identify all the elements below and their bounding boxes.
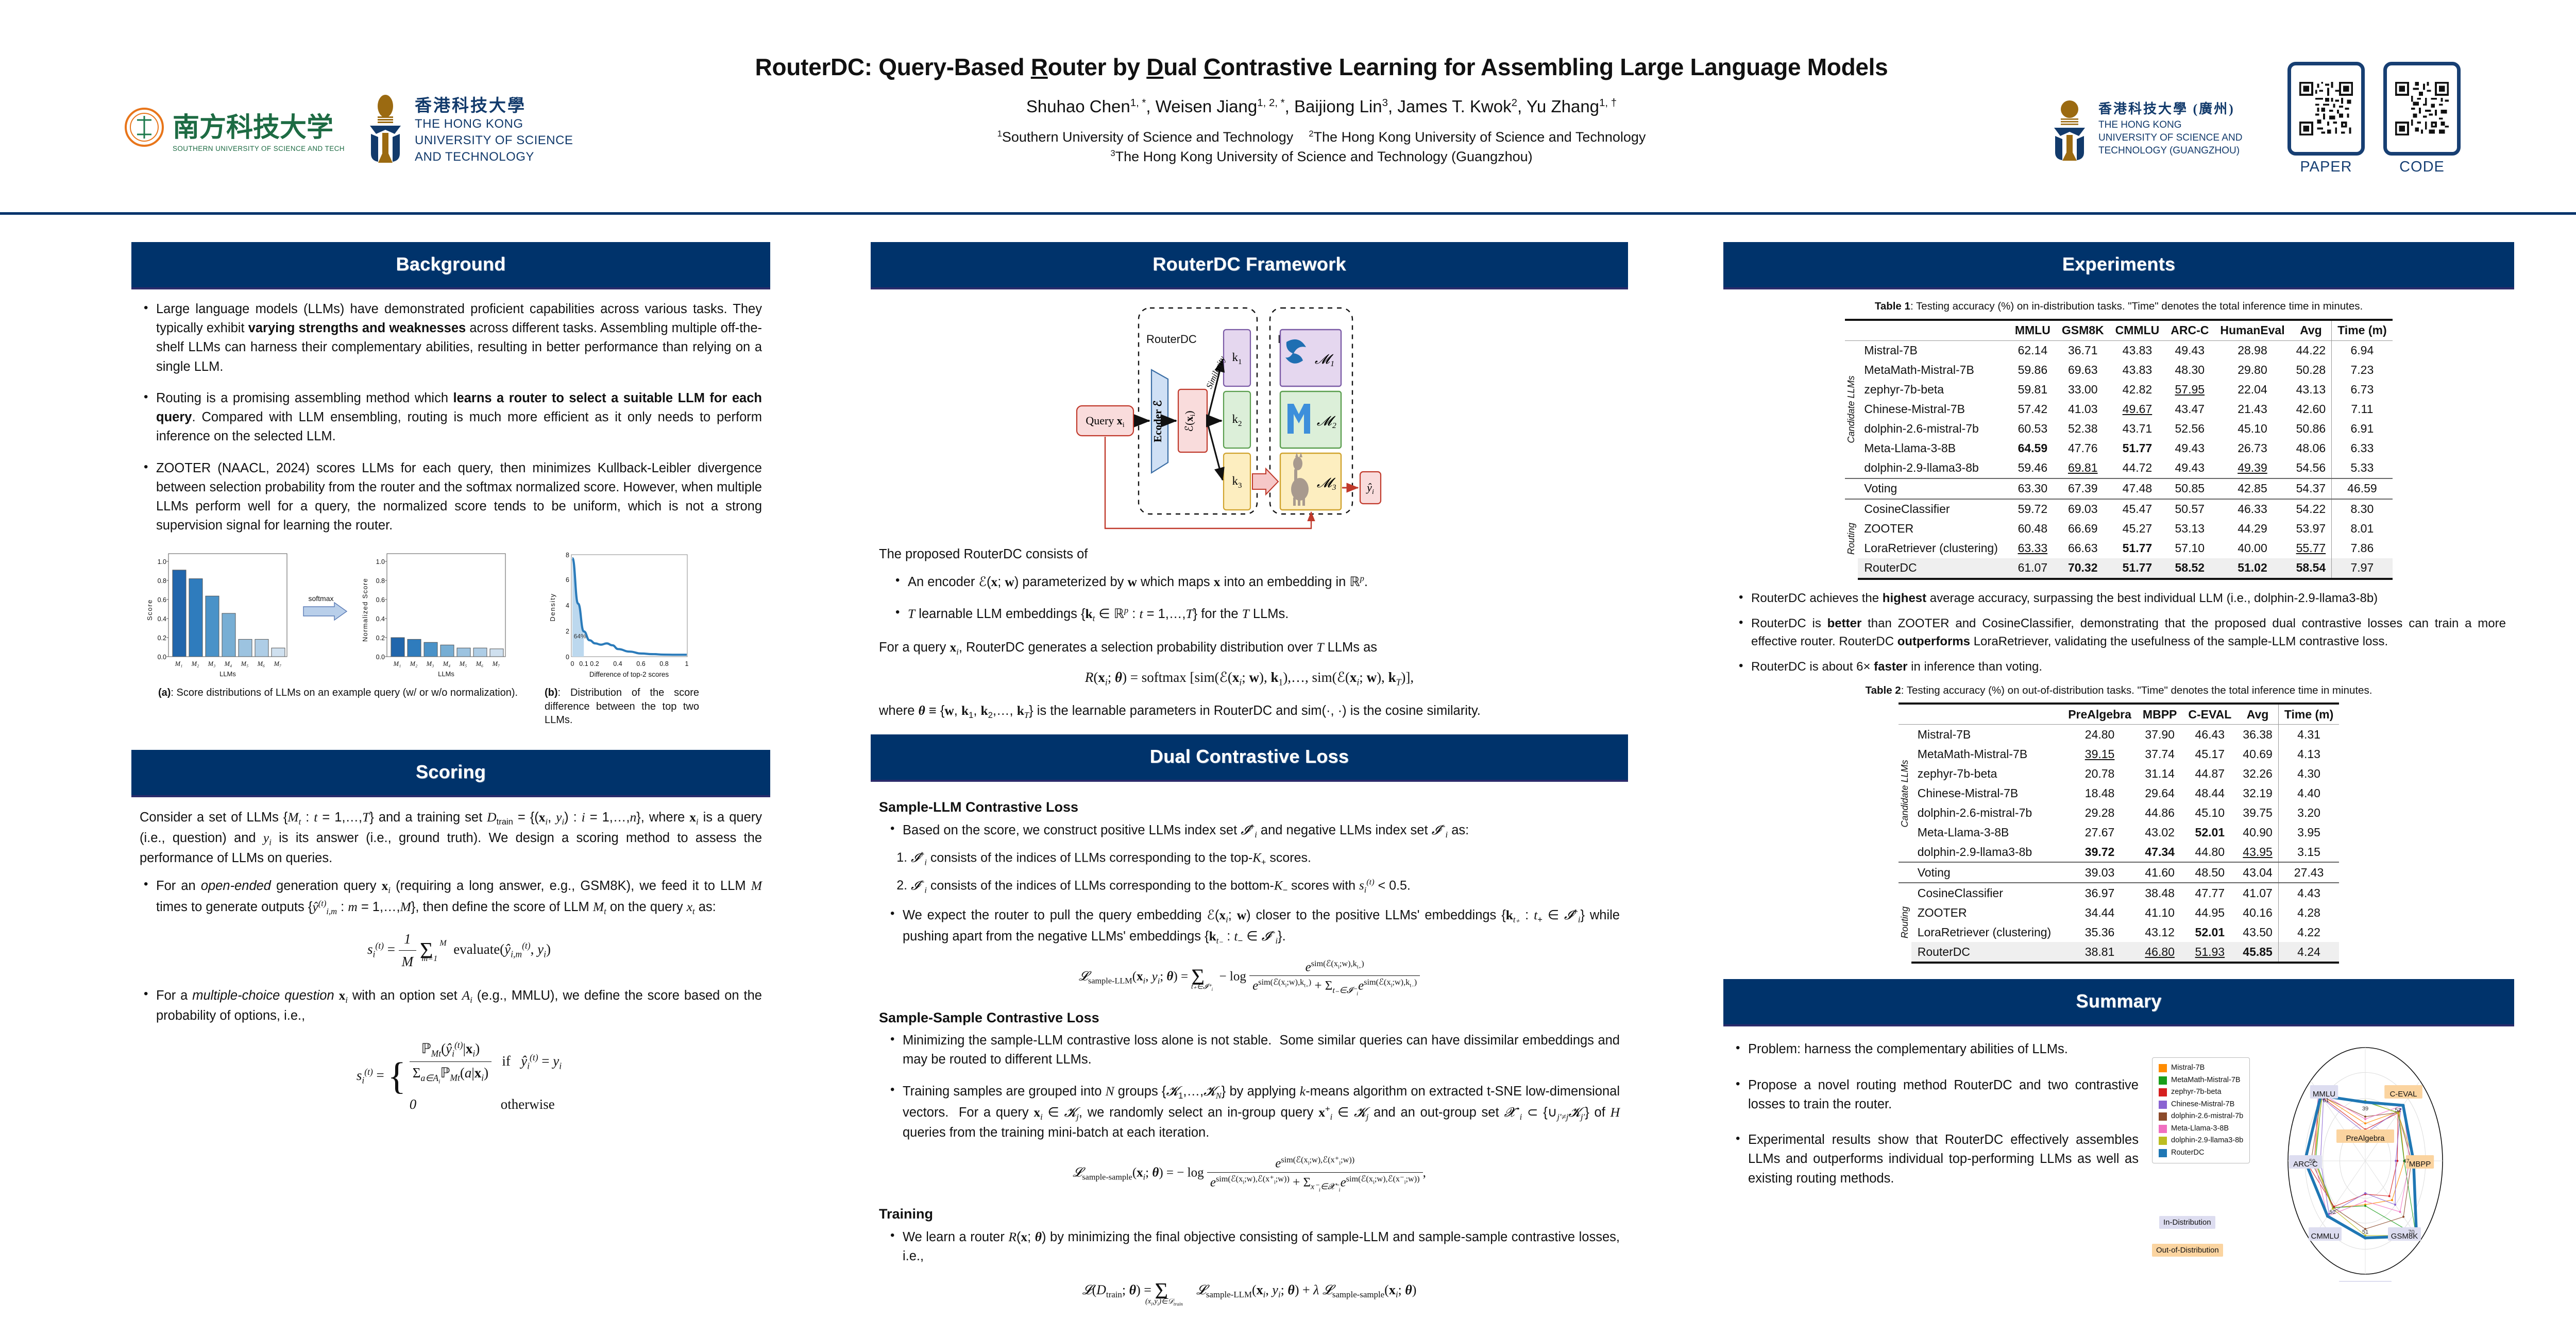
svg-text:0.2: 0.2 <box>376 635 385 642</box>
table-cell: 43.47 <box>2165 400 2214 419</box>
svg-text:M₁: M₁ <box>393 660 401 667</box>
list-item: 𝓘−i consists of the indices of LLMs corr… <box>911 876 1620 897</box>
table-cell: 45.85 <box>2237 942 2278 963</box>
row-label: Chinese-Mistral-7B <box>1911 783 2062 803</box>
column-header: PreAlgebra <box>2062 704 2137 725</box>
table-cell: 57.95 <box>2165 380 2214 400</box>
table-cell: 8.30 <box>2332 499 2393 519</box>
table-cell: 7.86 <box>2332 539 2393 558</box>
table-cell: 44.86 <box>2137 803 2182 822</box>
svg-text:MBPP: MBPP <box>2409 1160 2431 1169</box>
svg-text:0.2: 0.2 <box>158 635 166 642</box>
row-label: RouterDC <box>1911 942 2062 963</box>
svg-text:2: 2 <box>566 628 569 635</box>
row-label: Meta-Llama-3-8B <box>1911 822 2062 842</box>
svg-text:THE HONG KONG: THE HONG KONG <box>2098 119 2182 130</box>
table-cell: 59.81 <box>2009 380 2056 400</box>
table-cell: 4.28 <box>2278 903 2339 922</box>
experiments-findings-1: RouterDC achieves the highest average ac… <box>1735 589 2506 676</box>
svg-text:1.0: 1.0 <box>158 558 166 565</box>
legend-swatch <box>2159 1076 2167 1085</box>
summary-bullets: Problem: harness the complementary abili… <box>1732 1040 2139 1188</box>
table-cell: 47.48 <box>2110 478 2165 499</box>
table-cell: 44.87 <box>2182 764 2237 783</box>
table-cell: 38.48 <box>2137 883 2182 903</box>
legend-swatch <box>2159 1137 2167 1145</box>
subhead-training: Training <box>879 1206 1620 1222</box>
svg-text:SOUTHERN UNIVERSITY OF SCIENCE: SOUTHERN UNIVERSITY OF SCIENCE AND TECHN… <box>173 145 345 152</box>
affiliation-line-2: 3The Hong Kong University of Science and… <box>592 147 2050 166</box>
svg-text:52: 52 <box>2330 1209 2336 1215</box>
table-cell: 51.77 <box>2110 439 2165 458</box>
table-cell: 37.90 <box>2137 725 2182 745</box>
row-label: dolphin-2.6-mistral-7b <box>1911 803 2062 822</box>
table-cell: 6.91 <box>2332 419 2393 439</box>
row-label: LoraRetriever (clustering) <box>1911 922 2062 942</box>
table-cell: 8.01 <box>2332 519 2393 539</box>
table-cell: 4.40 <box>2278 783 2339 803</box>
svg-text:M₅: M₅ <box>241 660 249 667</box>
table-cell: 63.30 <box>2009 478 2056 499</box>
table-cell: 3.20 <box>2278 803 2339 822</box>
svg-text:59: 59 <box>2309 1158 2315 1164</box>
list-item: Based on the score, we construct positiv… <box>886 820 1620 841</box>
page-title: RouterDC: Query-Based Router by Dual Con… <box>592 54 2050 81</box>
table-cell: 20.78 <box>2062 764 2137 783</box>
table-cell: 39.03 <box>2062 862 2137 883</box>
table-cell: 28.98 <box>2214 340 2290 361</box>
scoring-intro: Consider a set of LLMs {Mt : t = 1,…,T} … <box>140 808 762 868</box>
author-list: Shuhao Chen1, *, Weisen Jiang1, 2, *, Ba… <box>592 96 2050 117</box>
svg-text:M₂: M₂ <box>410 660 418 667</box>
table-cell: 52.38 <box>2056 419 2110 439</box>
figure-a-score-distributions: Score 0.00.20.4 0.60.81.0 M₁M₂M₃ M₄M₅M₆M… <box>140 547 536 684</box>
figure-b-caption: (b): Distribution of the score differenc… <box>545 686 699 727</box>
qr-paper[interactable]: PAPER <box>2287 62 2365 176</box>
list-item: RouterDC is about 6× faster in inference… <box>1735 658 2506 676</box>
background-figures: Score 0.00.20.4 0.60.81.0 M₁M₂M₃ M₄M₅M₆M… <box>140 547 762 684</box>
list-item: 𝓘+i consists of the indices of LLMs corr… <box>911 848 1620 869</box>
table-cell: 32.26 <box>2237 764 2278 783</box>
row-group-label: Candidate LLMs <box>1845 340 1858 478</box>
table2-caption: Table 2: Testing accuracy (%) on out-of-… <box>1732 684 2506 698</box>
radar-legend: Mistral-7BMetaMath-Mistral-7Bzephyr-7b-b… <box>2152 1057 2250 1163</box>
row-label: ZOOTER <box>1911 903 2062 922</box>
table-cell: 50.86 <box>2291 419 2332 439</box>
row-label: Voting <box>1911 862 2062 883</box>
logo-hkust: 香港科技大學 THE HONG KONG UNIVERSITY OF SCIEN… <box>361 93 587 167</box>
row-label: zephyr-7b-beta <box>1911 764 2062 783</box>
svg-text:CMMLU: CMMLU <box>2311 1232 2340 1241</box>
legend-item: Mistral-7B <box>2159 1062 2243 1074</box>
table-row: dolphin-2.9-llama3-8b39.7247.3444.8043.9… <box>1899 842 2340 862</box>
list-item: An encoder ℰ(x; w) parameterized by w wh… <box>891 572 1620 592</box>
table-cell: 51.93 <box>2182 942 2237 963</box>
svg-text:南方科技大学: 南方科技大学 <box>173 113 333 143</box>
framework-closing: where θ ≡ {w, k1, k2,…, kT} is the learn… <box>879 701 1620 722</box>
sample-sample-bullets: Minimizing the sample-LLM contrastive lo… <box>886 1031 1620 1142</box>
table-cell: 43.04 <box>2237 862 2278 883</box>
table-cell: 36.38 <box>2237 725 2278 745</box>
table-cell: 43.50 <box>2237 922 2278 942</box>
svg-text:4: 4 <box>566 602 569 609</box>
equation-sample-sample-loss: 𝓛sample-sample(xi; θ) = − log esim(ℰ(xi;… <box>879 1155 1620 1193</box>
section-header-experiments: Experiments <box>1723 242 2514 289</box>
table-cell: 52.01 <box>2182 822 2237 842</box>
table-cell: 41.03 <box>2056 400 2110 419</box>
svg-text:0.6: 0.6 <box>636 660 645 667</box>
svg-text:0.8: 0.8 <box>659 660 668 667</box>
legend-swatch <box>2159 1064 2167 1072</box>
table-cell: 40.69 <box>2237 744 2278 764</box>
svg-text:THE HONG KONG: THE HONG KONG <box>415 117 523 131</box>
list-item: Propose a novel routing method RouterDC … <box>1732 1076 2139 1114</box>
table-row: Candidate LLMsMistral-7B24.8037.9046.433… <box>1899 725 2340 745</box>
llm-label-1: 𝓜₁ <box>1315 352 1334 367</box>
qr-code-paper-icon[interactable] <box>2287 62 2365 156</box>
svg-text:0.4: 0.4 <box>158 615 166 623</box>
table-row: MetaMath-Mistral-7B39.1537.7445.1740.694… <box>1899 744 2340 764</box>
row-group-label: Routing <box>1899 883 1911 963</box>
framework-intro: The proposed RouterDC consists of <box>879 545 1620 564</box>
list-item: Problem: harness the complementary abili… <box>1732 1040 2139 1059</box>
section-header-framework: RouterDC Framework <box>871 242 1628 289</box>
table-cell: 70.32 <box>2056 558 2110 579</box>
table-row: Voting63.3067.3947.4850.8542.8554.3746.5… <box>1845 478 2392 499</box>
row-label: MetaMath-Mistral-7B <box>1858 361 2009 380</box>
list-item: RouterDC is better than ZOOTER and Cosin… <box>1735 614 2506 650</box>
svg-text:M₄: M₄ <box>443 660 451 667</box>
svg-text:M₁: M₁ <box>175 660 183 667</box>
table-cell: 43.83 <box>2110 340 2165 361</box>
table-cell: 58.52 <box>2165 558 2214 579</box>
embedding-label: ℰ(xi) <box>1183 410 1197 432</box>
figure-a-caption: (a): Score distributions of LLMs on an e… <box>140 686 536 727</box>
table-cell: 63.33 <box>2009 539 2056 558</box>
table-row: RoutingCosineClassifier59.7269.0345.4750… <box>1845 499 2392 519</box>
svg-text:0.4: 0.4 <box>613 660 622 667</box>
table-cell: 44.95 <box>2182 903 2237 922</box>
svg-text:UNIVERSITY OF SCIENCE: UNIVERSITY OF SCIENCE <box>415 133 573 147</box>
svg-text:0.0: 0.0 <box>158 654 166 661</box>
table-cell: 51.02 <box>2214 558 2290 579</box>
table-row: zephyr-7b-beta59.8133.0042.8257.9522.044… <box>1845 380 2392 400</box>
table-cell: 36.97 <box>2062 883 2137 903</box>
table-cell: 58.54 <box>2291 558 2332 579</box>
legend-swatch <box>2159 1149 2167 1157</box>
row-label: CosineClassifier <box>1858 499 2009 519</box>
svg-text:香港科技大學 (廣州): 香港科技大學 (廣州) <box>2098 101 2235 116</box>
table-cell: 44.80 <box>2182 842 2237 862</box>
table-cell: 57.10 <box>2165 539 2214 558</box>
column-header: Time (m) <box>2278 704 2339 725</box>
table-cell: 50.85 <box>2165 478 2214 499</box>
legend-label: dolphin-2.6-mistral-7b <box>2171 1110 2243 1122</box>
equation-training-objective: 𝓛(Dtrain; θ) = Σ(xi,yi)∈𝒟train 𝓛sample-L… <box>879 1278 1620 1307</box>
equation-mcq-score: si(t) = { ℙMt(ŷi(t)|xi) Σa∈AiℙMt(a|xi) i… <box>156 1039 762 1115</box>
subhead-sample-sample: Sample-Sample Contrastive Loss <box>879 1010 1620 1026</box>
table-cell: 4.31 <box>2278 725 2339 745</box>
background-bullets: Large language models (LLMs) have demons… <box>140 300 762 535</box>
table-row: ZOOTER34.4441.1044.9540.164.28 <box>1899 903 2340 922</box>
radar-tag-out-of-distribution: Out-of-Distribution <box>2152 1244 2223 1257</box>
table-cell: 48.50 <box>2182 862 2237 883</box>
table-cell: 60.53 <box>2009 419 2056 439</box>
table-cell: 41.10 <box>2137 903 2182 922</box>
table-cell: 53.13 <box>2165 519 2214 539</box>
legend-label: MetaMath-Mistral-7B <box>2171 1074 2241 1086</box>
table-cell: 41.60 <box>2137 862 2182 883</box>
qr-code-group: PAPER <box>2287 62 2461 176</box>
section-header-dual-loss: Dual Contrastive Loss <box>871 734 1628 782</box>
table-cell: 39.15 <box>2062 744 2137 764</box>
table-cell: 35.36 <box>2062 922 2137 942</box>
table-1-in-distribution: MMLUGSM8KCMMLUARC-CHumanEvalAvgTime (m)C… <box>1845 319 2392 580</box>
svg-text:8: 8 <box>566 552 569 559</box>
table-cell: 54.22 <box>2291 499 2332 519</box>
section-header-summary: Summary <box>1723 979 2514 1026</box>
table-row: ZOOTER60.4866.6945.2753.1344.2953.978.01 <box>1845 519 2392 539</box>
table-cell: 40.90 <box>2237 822 2278 842</box>
table-row: LoraRetriever (clustering)35.3643.1252.0… <box>1899 922 2340 942</box>
table-cell: 21.43 <box>2214 400 2290 419</box>
table-cell: 44.22 <box>2291 340 2332 361</box>
qr-code[interactable]: CODE <box>2383 62 2461 176</box>
table-cell: 6.33 <box>2332 439 2393 458</box>
table-cell: 61.07 <box>2009 558 2056 579</box>
svg-text:M₃: M₃ <box>426 660 434 667</box>
svg-text:61: 61 <box>2323 1098 2329 1104</box>
table-row: Candidate LLMsMistral-7B62.1436.7143.834… <box>1845 340 2392 361</box>
query-label: Query xi <box>1086 414 1124 429</box>
legend-item: dolphin-2.6-mistral-7b <box>2159 1110 2243 1122</box>
svg-text:70: 70 <box>2408 1229 2414 1236</box>
sample-llm-numbered: 𝓘+i consists of the indices of LLMs corr… <box>879 848 1620 896</box>
table-cell: 39.75 <box>2237 803 2278 822</box>
list-item: Routing is a promising assembling method… <box>140 389 762 447</box>
column-header: Avg <box>2291 320 2332 341</box>
table-cell: 18.48 <box>2062 783 2137 803</box>
svg-text:M₄: M₄ <box>224 660 232 667</box>
svg-text:M₃: M₃ <box>208 660 216 667</box>
svg-text:0.8: 0.8 <box>158 577 166 585</box>
framework-diagram: RouterDC LLMs Query xi Ecoder ℰ ℰ(xi) k1… <box>879 303 1620 540</box>
list-item: We expect the router to pull the query e… <box>886 905 1620 947</box>
table-cell: 55.77 <box>2291 539 2332 558</box>
svg-text:M₆: M₆ <box>476 660 484 667</box>
column-middle: RouterDC Framework RouterDC LLMs Query x… <box>871 242 1628 1320</box>
table-cell: 41.07 <box>2237 883 2278 903</box>
svg-text:1.0: 1.0 <box>376 558 385 565</box>
table-header-row: MMLUGSM8KCMMLUARC-CHumanEvalAvgTime (m) <box>1845 320 2392 341</box>
svg-text:0.6: 0.6 <box>158 596 166 604</box>
list-item: ZOOTER (NAACL, 2024) scores LLMs for eac… <box>140 459 762 536</box>
row-label: Mistral-7B <box>1858 340 2009 361</box>
svg-text:香港科技大學: 香港科技大學 <box>415 96 526 115</box>
encoder-label: Ecoder ℰ <box>1151 400 1164 442</box>
svg-text:0.2: 0.2 <box>590 660 599 667</box>
table-cell: 24.80 <box>2062 725 2137 745</box>
table-cell: 49.43 <box>2165 340 2214 361</box>
table-cell: 6.94 <box>2332 340 2393 361</box>
svg-text:M₇: M₇ <box>492 660 500 667</box>
experiments-body: Table 1: Testing accuracy (%) on in-dist… <box>1723 289 2514 964</box>
table-cell: 43.95 <box>2237 842 2278 862</box>
svg-text:51: 51 <box>2362 1229 2368 1236</box>
svg-text:AND TECHNOLOGY: AND TECHNOLOGY <box>415 150 534 164</box>
table-cell: 47.77 <box>2182 883 2237 903</box>
table-row: dolphin-2.6-mistral-7b29.2844.8645.1039.… <box>1899 803 2340 822</box>
table-cell: 45.27 <box>2110 519 2165 539</box>
svg-text:TECHNOLOGY (GUANGZHOU): TECHNOLOGY (GUANGZHOU) <box>2098 145 2240 156</box>
table-cell: 52.56 <box>2165 419 2214 439</box>
table-cell: 45.10 <box>2214 419 2290 439</box>
svg-text:LLMs: LLMs <box>219 670 236 678</box>
table-cell: 29.28 <box>2062 803 2137 822</box>
row-label: Voting <box>1858 478 2009 499</box>
table-cell: 49.43 <box>2165 458 2214 478</box>
row-label: dolphin-2.6-mistral-7b <box>1858 419 2009 439</box>
affiliation-line-1: 1Southern University of Science and Tech… <box>592 127 2050 147</box>
legend-item: RouterDC <box>2159 1147 2243 1159</box>
table-cell: 42.85 <box>2214 478 2290 499</box>
svg-text:0.4: 0.4 <box>376 615 385 623</box>
table-cell: 48.06 <box>2291 439 2332 458</box>
table-cell: 46.59 <box>2332 478 2393 499</box>
column-header: GSM8K <box>2056 320 2110 341</box>
legend-item: MetaMath-Mistral-7B <box>2159 1074 2243 1086</box>
table-cell: 6.73 <box>2332 380 2393 400</box>
row-label: Mistral-7B <box>1911 725 2062 745</box>
svg-text:softmax: softmax <box>308 594 333 603</box>
column-header: MMLU <box>2009 320 2056 341</box>
table-cell: 3.95 <box>2278 822 2339 842</box>
table-cell: 7.97 <box>2332 558 2393 579</box>
training-bullets: We learn a router R(x; θ) by minimizing … <box>886 1227 1620 1266</box>
qr-paper-label: PAPER <box>2287 159 2365 176</box>
legend-swatch <box>2159 1088 2167 1096</box>
svg-text:UNIVERSITY OF SCIENCE AND: UNIVERSITY OF SCIENCE AND <box>2098 132 2242 143</box>
table-cell: 43.13 <box>2291 380 2332 400</box>
table-cell: 3.15 <box>2278 842 2339 862</box>
table1-caption: Table 1: Testing accuracy (%) on in-dist… <box>1732 300 2506 314</box>
legend-swatch <box>2159 1101 2167 1109</box>
table-cell: 64.59 <box>2009 439 2056 458</box>
radar-chart-wrap: Mistral-7BMetaMath-Mistral-7Bzephyr-7b-b… <box>2149 1040 2504 1284</box>
table-cell: 59.46 <box>2009 458 2056 478</box>
scoring-body: Consider a set of LLMs {Mt : t = 1,…,T} … <box>131 797 770 1115</box>
legend-label: zephyr-7b-beta <box>2171 1086 2222 1098</box>
table-cell: 46.80 <box>2137 942 2182 963</box>
table-cell: 7.23 <box>2332 361 2393 380</box>
llm-label-2: 𝓜₂ <box>1317 414 1336 428</box>
table-cell: 29.64 <box>2137 783 2182 803</box>
table-cell: 67.39 <box>2056 478 2110 499</box>
qr-code-code-icon[interactable] <box>2383 62 2461 156</box>
subhead-sample-llm: Sample-LLM Contrastive Loss <box>879 799 1620 815</box>
svg-text:LLMs: LLMs <box>438 670 454 678</box>
table-cell: 4.24 <box>2278 942 2339 963</box>
column-header: HumanEval <box>2214 320 2290 341</box>
svg-text:6: 6 <box>566 576 569 584</box>
table-row: zephyr-7b-beta20.7831.1444.8732.264.30 <box>1899 764 2340 783</box>
column-right: Experiments Table 1: Testing accuracy (%… <box>1723 242 2514 1284</box>
legend-label: Mistral-7B <box>2171 1062 2205 1074</box>
legend-item: dolphin-2.9-llama3-8b <box>2159 1135 2243 1146</box>
legend-label: Chinese-Mistral-7B <box>2171 1099 2234 1110</box>
row-label: LoraRetriever (clustering) <box>1858 539 2009 558</box>
table-cell: 51.77 <box>2110 558 2165 579</box>
legend-label: RouterDC <box>2171 1147 2204 1159</box>
scoring-bullets: For an open-ended generation query xi (r… <box>140 876 762 1115</box>
table-cell: 49.43 <box>2165 439 2214 458</box>
table-row: dolphin-2.6-mistral-7b60.5352.3843.7152.… <box>1845 419 2392 439</box>
column-left: Background Large language models (LLMs) … <box>131 242 770 1128</box>
table-cell: 29.80 <box>2214 361 2290 380</box>
svg-text:0: 0 <box>566 654 569 661</box>
svg-text:M₅: M₅ <box>459 660 467 667</box>
qr-code-label: CODE <box>2383 159 2461 176</box>
equation-open-ended-score: si(t) = 1M Σm=1M evaluate(ŷi,m(t), yi) <box>156 929 762 972</box>
table-cell: 48.30 <box>2165 361 2214 380</box>
table-2-out-of-distribution: PreAlgebraMBPPC-EVALAvgTime (m)Candidate… <box>1899 702 2340 964</box>
table-cell: 31.14 <box>2137 764 2182 783</box>
table-cell: 60.48 <box>2009 519 2056 539</box>
column-header: C-EVAL <box>2182 704 2237 725</box>
table-cell: 45.10 <box>2182 803 2237 822</box>
row-label: CosineClassifier <box>1911 883 2062 903</box>
svg-text:C-EVAL: C-EVAL <box>2389 1090 2417 1099</box>
svg-text:Score: Score <box>146 599 154 621</box>
table-cell: 69.63 <box>2056 361 2110 380</box>
table-cell: 62.14 <box>2009 340 2056 361</box>
table-cell: 52.01 <box>2182 922 2237 942</box>
framework-body: RouterDC LLMs Query xi Ecoder ℰ ℰ(xi) k1… <box>871 289 1628 722</box>
radar-tag-in-distribution: In-Distribution <box>2159 1216 2215 1229</box>
table-cell: 37.74 <box>2137 744 2182 764</box>
table-row: RouterDC61.0770.3251.7758.5251.0258.547.… <box>1845 558 2392 579</box>
table-row: Chinese-Mistral-7B18.4829.6448.4432.194.… <box>1899 783 2340 803</box>
table-cell: 26.73 <box>2214 439 2290 458</box>
section-header-scoring: Scoring <box>131 750 770 797</box>
list-item: For an open-ended generation query xi (r… <box>140 876 762 972</box>
table-cell: 33.00 <box>2056 380 2110 400</box>
row-group-label: Candidate LLMs <box>1899 725 1911 863</box>
table-cell: 46.33 <box>2214 499 2290 519</box>
list-item: Training samples are grouped into N grou… <box>886 1082 1620 1142</box>
sample-llm-bullets-2: We expect the router to pull the query e… <box>886 905 1620 947</box>
sample-llm-bullets: Based on the score, we construct positiv… <box>886 820 1620 841</box>
table-cell: 48.44 <box>2182 783 2237 803</box>
router-group-label: RouterDC <box>1146 333 1197 346</box>
table-cell: 44.72 <box>2110 458 2165 478</box>
table-cell: 59.72 <box>2009 499 2056 519</box>
table-cell: 34.44 <box>2062 903 2137 922</box>
column-header: CMMLU <box>2110 320 2165 341</box>
list-item: We learn a router R(x; θ) by minimizing … <box>886 1227 1620 1266</box>
table-cell: 53.97 <box>2291 519 2332 539</box>
table-cell: 36.71 <box>2056 340 2110 361</box>
row-label: Meta-Llama-3-8B <box>1858 439 2009 458</box>
table-row: Chinese-Mistral-7B57.4241.0349.6743.4721… <box>1845 400 2392 419</box>
table-cell: 27.43 <box>2278 862 2339 883</box>
table-cell: 7.11 <box>2332 400 2393 419</box>
table-cell: 38.81 <box>2062 942 2137 963</box>
svg-text:0: 0 <box>571 660 574 667</box>
table-cell: 47.76 <box>2056 439 2110 458</box>
svg-text:52: 52 <box>2395 1107 2401 1113</box>
table-cell: 27.67 <box>2062 822 2137 842</box>
